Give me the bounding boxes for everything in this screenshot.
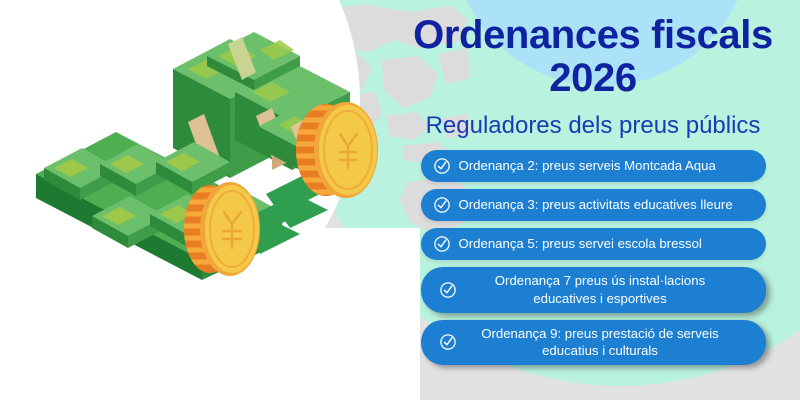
list-item-label: Ordenança 2: preus serveis Montcada Aqua <box>459 157 752 175</box>
list-item[interactable]: Ordenança 9: preus prestació de serveis … <box>421 320 766 366</box>
list-item[interactable]: Ordenança 5: preus servei escola bressol <box>421 228 766 260</box>
list-item[interactable]: Ordenança 3: preus activitats educatives… <box>421 189 766 221</box>
list-item-label: Ordenança 5: preus servei escola bressol <box>459 235 752 253</box>
check-circle-icon <box>439 333 457 351</box>
gold-coin-back <box>296 102 378 198</box>
list-item[interactable]: Ordenança 7 preus ús instal·lacions educ… <box>421 267 766 313</box>
money-stacks-and-coins-illustration <box>8 22 398 292</box>
title-line-1: Ordenances fiscals <box>386 14 800 57</box>
content-column: Ordenances fiscals 2026 Reguladores dels… <box>386 0 800 400</box>
check-circle-icon <box>433 235 451 253</box>
list-item-label: Ordenança 9: preus prestació de serveis … <box>461 325 750 361</box>
gold-coin-front <box>184 182 260 276</box>
page-title: Ordenances fiscals 2026 <box>386 14 800 100</box>
poster-root: Ordenances fiscals 2026 Reguladores dels… <box>0 0 800 400</box>
check-circle-icon <box>433 157 451 175</box>
page-subtitle: Reguladores dels preus públics <box>386 112 800 140</box>
check-circle-icon <box>433 196 451 214</box>
ordinance-list: Ordenança 2: preus serveis Montcada Aqua… <box>386 150 800 372</box>
title-line-2: 2026 <box>386 57 800 100</box>
check-circle-icon <box>439 281 457 299</box>
list-item[interactable]: Ordenança 2: preus serveis Montcada Aqua <box>421 150 766 182</box>
list-item-label: Ordenança 3: preus activitats educatives… <box>459 196 752 214</box>
list-item-label: Ordenança 7 preus ús instal·lacions educ… <box>461 272 750 308</box>
